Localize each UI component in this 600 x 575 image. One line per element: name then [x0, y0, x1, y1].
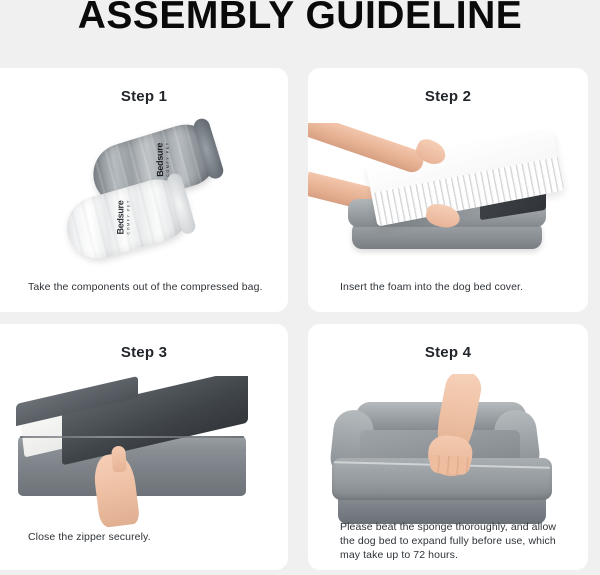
- page-title: ASSEMBLY GUIDELINE: [0, 0, 600, 40]
- zipper-line-icon: [20, 436, 244, 438]
- brand-label-white: Bedsure COMFY PET: [115, 199, 130, 234]
- fingers-icon: [429, 455, 470, 476]
- brand-sub-white: COMFY PET: [126, 199, 130, 234]
- compressed-roll-white-icon: Bedsure COMFY PET: [60, 172, 196, 266]
- step-1-illustration: Bedsure COMFY PET Bedsure COMFY PET: [0, 116, 288, 276]
- brand-name-gray: Bedsure: [154, 143, 165, 177]
- step-card-2: Step 2 Insert the foam into the dog bed …: [308, 68, 588, 312]
- step-caption-4: Please beat the sponge thoroughly, and a…: [340, 520, 568, 562]
- step-2-illustration: [308, 123, 588, 273]
- step-title-3: Step 3: [0, 344, 288, 361]
- steps-grid: Step 1 Bedsure COMFY PET Bedsure COMFY P…: [0, 68, 600, 570]
- step-card-3: Step 3 Close the zipper securely.: [0, 324, 288, 570]
- step-card-1: Step 1 Bedsure COMFY PET Bedsure COMFY P…: [0, 68, 288, 312]
- step-card-4: Step 4 Please beat the sponge thoroughly…: [308, 324, 588, 570]
- step-caption-3: Close the zipper securely.: [28, 530, 258, 544]
- brand-name-white: Bedsure: [115, 201, 125, 235]
- step-title-1: Step 1: [0, 88, 288, 105]
- finger-on-zipper-icon: [111, 446, 127, 473]
- step-title-4: Step 4: [308, 344, 588, 361]
- step-4-illustration: [308, 374, 588, 544]
- step-title-2: Step 2: [308, 88, 588, 105]
- step-3-illustration: [0, 376, 288, 536]
- step-caption-1: Take the components out of the compresse…: [28, 280, 264, 294]
- brand-label-gray: Bedsure COMFY PET: [154, 141, 170, 177]
- brand-sub-gray: COMFY PET: [165, 141, 170, 176]
- step-caption-2: Insert the foam into the dog bed cover.: [340, 280, 570, 294]
